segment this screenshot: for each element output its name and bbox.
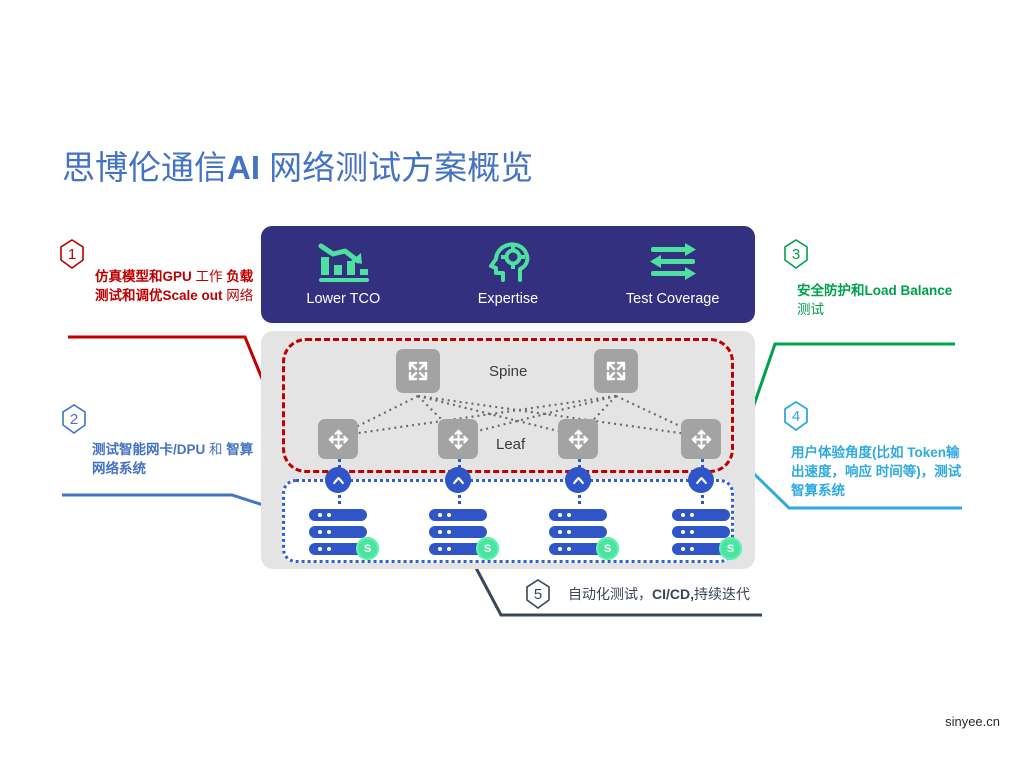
callout-number-3: 3 [792, 246, 800, 263]
value-label-test-coverage: Test Coverage [626, 291, 720, 307]
server-rack-3[interactable]: S [549, 509, 607, 556]
nic-node-3[interactable] [565, 467, 591, 493]
connector-line-2 [62, 495, 288, 513]
callout-number-1: 1 [68, 246, 76, 263]
four-way-arrows-icon [690, 428, 713, 451]
spine-switch-1[interactable] [396, 349, 440, 393]
page-title-suffix: 网络测试方案概览 [260, 149, 533, 186]
callout-1-line1-bold: 仿真模型和GPU [95, 269, 192, 284]
spine-tier-label: Spine [489, 363, 527, 380]
callout-badge-5[interactable]: 5 [522, 578, 554, 610]
callout-1-line3-bold: out [202, 288, 223, 303]
rack-unit [309, 526, 367, 538]
storage-badge: S [596, 537, 619, 560]
callout-text-3: 安全防护和Load Balance 测试 [797, 281, 967, 319]
callout-badge-4[interactable]: 4 [780, 400, 812, 432]
callout-text-2: 测试智能网卡/DPU 和 智算网络系统 [92, 440, 257, 478]
callout-number-4: 4 [792, 408, 800, 425]
rack-unit [672, 526, 730, 538]
callout-badge-1[interactable]: 1 [56, 238, 88, 270]
callout-3-line2-bold: Balance [901, 283, 953, 298]
watermark: sinyee.cn [945, 714, 1000, 729]
connector-line-3 [746, 344, 955, 428]
leaf-switch-4[interactable] [681, 419, 721, 459]
value-item-lower-tco[interactable]: Lower TCO [268, 238, 418, 307]
declining-bar-chart-icon [315, 238, 371, 286]
four-way-arrows-icon [447, 428, 470, 451]
leaf-tier-label: Leaf [496, 436, 525, 453]
storage-badge: S [356, 537, 379, 560]
four-way-arrows-icon [327, 428, 350, 451]
value-proposition-banner: Lower TCO Expertise [261, 226, 755, 323]
callout-3-line2-reg: 测试 [797, 302, 824, 317]
page-title-prefix: 思博伦通信 [62, 149, 227, 186]
nic-node-1[interactable] [325, 467, 351, 493]
callout-5-text-bold: CI/CD, [652, 586, 694, 602]
value-label-expertise: Expertise [478, 291, 538, 307]
callout-text-1: 仿真模型和GPU 工作 负载测试和调优Scale out 网络 [95, 267, 257, 305]
spine-switch-2[interactable] [594, 349, 638, 393]
value-item-expertise[interactable]: Expertise [433, 238, 583, 307]
chevron-up-icon [571, 473, 586, 488]
storage-badge: S [476, 537, 499, 560]
server-rack-1[interactable]: S [309, 509, 367, 556]
rack-unit [672, 509, 730, 521]
brain-gear-icon [483, 238, 533, 286]
rack-unit [549, 509, 607, 521]
callout-text-4: 用户体验角度(比如 Token输出速度，响应 时间等)，测试智算系统 [791, 443, 971, 500]
callout-text-5: 自动化测试，CI/CD,持续迭代 [568, 585, 808, 604]
leaf-switch-2[interactable] [438, 419, 478, 459]
callout-number-5: 5 [534, 586, 542, 603]
expand-arrows-icon [604, 359, 628, 383]
leaf-switch-3[interactable] [558, 419, 598, 459]
callout-5-text-reg-1: 自动化测试， [568, 586, 652, 602]
chevron-up-icon [694, 473, 709, 488]
four-way-arrows-icon [567, 428, 590, 451]
server-rack-2[interactable]: S [429, 509, 487, 556]
callout-5-text-reg-2: 持续迭代 [694, 586, 750, 602]
storage-badge: S [719, 537, 742, 560]
callout-1-line1-reg: 工作 [192, 269, 223, 284]
server-rack-4[interactable]: S [672, 509, 730, 556]
callout-number-2: 2 [70, 411, 78, 428]
chevron-up-icon [451, 473, 466, 488]
nic-node-4[interactable] [688, 467, 714, 493]
callout-1-line3-reg: 网络 [223, 288, 254, 303]
rack-unit [309, 509, 367, 521]
callout-2-line1-reg: 和 [205, 442, 222, 457]
page-title-bold: AI [227, 149, 260, 186]
callout-4-line1-bold: 用户体验角度(比如 [791, 445, 904, 460]
value-label-lower-tco: Lower TCO [306, 291, 380, 307]
chevron-up-icon [331, 473, 346, 488]
bidirectional-arrows-icon [645, 238, 701, 286]
rack-unit [429, 509, 487, 521]
page-title: 思博伦通信AI 网络测试方案概览 [62, 146, 533, 190]
expand-arrows-icon [406, 359, 430, 383]
rack-unit [429, 526, 487, 538]
callout-badge-2[interactable]: 2 [58, 403, 90, 435]
nic-node-2[interactable] [445, 467, 471, 493]
rack-unit [549, 526, 607, 538]
callout-2-line1-bold: 测试智能网卡/DPU [92, 442, 205, 457]
value-item-test-coverage[interactable]: Test Coverage [598, 238, 748, 307]
leaf-switch-1[interactable] [318, 419, 358, 459]
network-fabric-container: Spine Leaf [261, 331, 755, 569]
diagram-stack: Lower TCO Expertise [261, 226, 755, 569]
callout-badge-3[interactable]: 3 [780, 238, 812, 270]
callout-3-line1-bold: 安全防护和Load [797, 283, 897, 298]
